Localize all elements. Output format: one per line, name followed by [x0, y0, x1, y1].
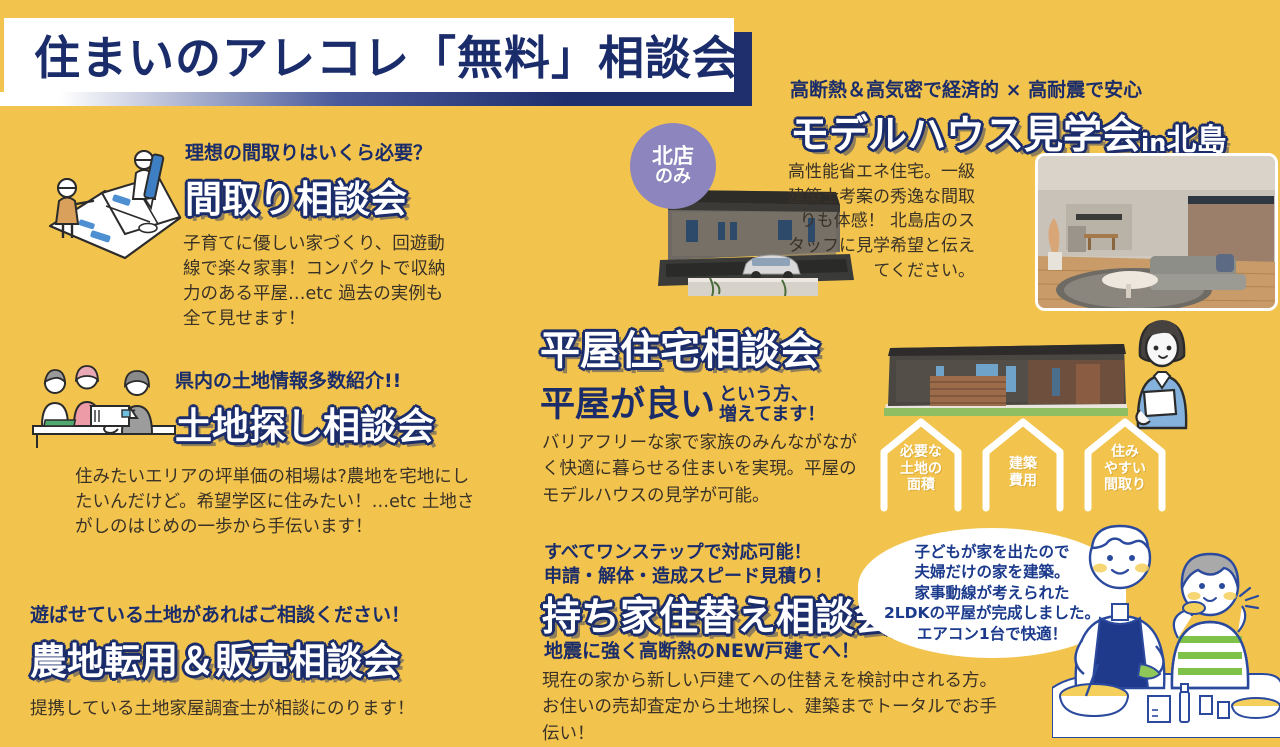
section-nouchi-body: 提携している土地家屋調査士が相談にのります！ [30, 697, 500, 722]
section-madori-title: 間取り相談会 [185, 169, 432, 223]
sumikae-kicker-1: すべてワンステップで対応可能！ [544, 538, 812, 564]
model-house-body: 高性能省エネ住宅。一級建築士考案の秀逸な間取りも体感！ 北島店のスタッフに見学希… [785, 160, 975, 283]
section-madori-body: 子育てに優しい家づくり、回遊動線で楽々家事！コンパクトで収納力のある平屋…etc… [183, 232, 451, 331]
section-model-house: 北店 のみ 高断熱＆高気密で経済的 × 高耐震で安心 モデルハウス見学会 in … [630, 75, 1280, 310]
page-title: 住まいのアレコレ「無料」相談会 [4, 22, 739, 88]
model-house-kicker: 高断熱＆高気密で経済的 × 高耐震で安心 [790, 75, 1226, 102]
hiraya-lead-small-2: 増えてます！ [719, 405, 825, 425]
model-house-title: モデルハウス見学会 [790, 104, 1141, 160]
floorplan-people-illustration [40, 146, 190, 266]
hiraya-body: バリアフリーな家で家族のみんながながく快適に暮らせる住まいを実現。平屋のモデルハ… [542, 430, 872, 509]
section-nouchi-title: 農地転用＆販売相談会 [30, 631, 500, 685]
section-tochisagashi-body: 住みたいエリアの坪単価の相場は?農地を宅地にしたいんだけど。希望学区に住みたい！… [75, 465, 475, 540]
consultation-desk-illustration [25, 360, 180, 455]
house-badge-build-cost: 建築費用 [980, 414, 1066, 512]
title-white-band: 住まいのアレコレ「無料」相談会 [4, 18, 734, 92]
hiraya-title: 平屋住宅相談会 [540, 318, 820, 376]
sumikae-body: 現在の家から新しい戸建てへの住替えを検討中される方。お住いの売却査定から土地探し… [542, 668, 1012, 747]
flyer-page: 住まいのアレコレ「無料」相談会 [0, 0, 1280, 740]
sumikae-kicker-2: 申請・解体・造成スピード見積り！ [544, 562, 832, 588]
badge-line-2: のみ [655, 167, 691, 188]
house-badge-land-area: 必要な土地の面積 [878, 414, 964, 512]
section-madori-kicker: 理想の間取りはいくら必要？ [185, 138, 432, 165]
house-badge-layout: 住みやすい間取り [1082, 414, 1168, 512]
section-tochisagashi-kicker: 県内の土地情報多数紹介!! [175, 366, 434, 393]
house-badge-build-cost-label: 建築費用 [980, 456, 1066, 489]
hiraya-lead-small-1: という方、 [719, 385, 825, 405]
sumikae-subtitle: 地震に強く高断熱のNEW戸建てへ！ [544, 636, 860, 663]
staff-woman-clipboard-illustration [1118, 310, 1218, 430]
elderly-couple-cooking-illustration [1052, 500, 1280, 738]
section-hiraya: 平屋住宅相談会 平屋が良い という方、 増えてます！ バリアフリーな家で家族のみ… [540, 318, 1280, 518]
sumikae-title: 持ち家住替え相談会 [542, 586, 893, 642]
house-badge-layout-label: 住みやすい間取り [1082, 444, 1168, 494]
section-nouchi-kicker: 遊ばせている土地があればご相談ください！ [30, 600, 500, 627]
section-tochisagashi-title: 土地探し相談会 [175, 396, 434, 450]
section-tochisagashi: 県内の土地情報多数紹介!! 土地探し相談会 住みたいエリアの坪単価の相場は?農地… [25, 360, 495, 570]
model-house-interior-photo [1035, 153, 1278, 311]
hiraya-lead-big: 平屋が良い [540, 376, 715, 427]
house-badge-land-area-label: 必要な土地の面積 [878, 444, 964, 494]
section-sumikae: すべてワンステップで対応可能！ 申請・解体・造成スピード見積り！ 持ち家住替え相… [540, 538, 1280, 738]
section-madori: 理想の間取りはいくら必要？ 間取り相談会 子育てに優しい家づくり、回遊動線で楽々… [40, 138, 490, 338]
section-nouchi: 遊ばせている土地があればご相談ください！ 農地転用＆販売相談会 提携している土地… [30, 600, 500, 720]
badge-line-1: 北店 [652, 145, 694, 167]
north-store-only-badge: 北店 のみ [630, 123, 716, 209]
